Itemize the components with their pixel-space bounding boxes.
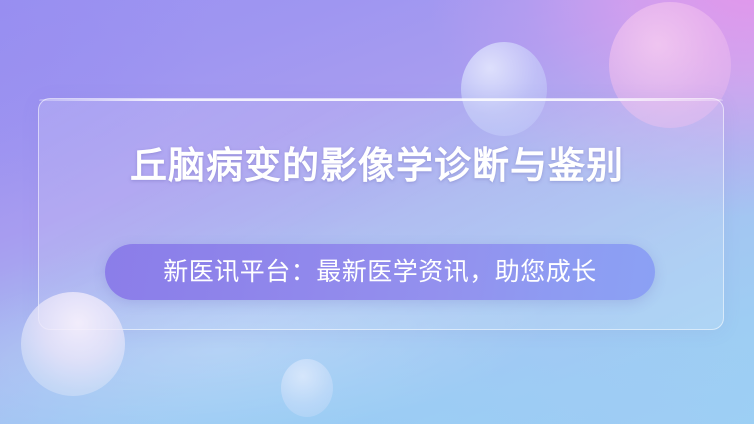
subtitle-pill: 新医讯平台：最新医学资讯，助您成长 [105,244,655,300]
slide-title: 丘脑病变的影像学诊断与鉴别 [0,142,754,190]
title-slide: 丘脑病变的影像学诊断与鉴别 新医讯平台：最新医学资讯，助您成长 [0,0,754,424]
subtitle-text: 新医讯平台：最新医学资讯，助您成长 [163,256,597,288]
